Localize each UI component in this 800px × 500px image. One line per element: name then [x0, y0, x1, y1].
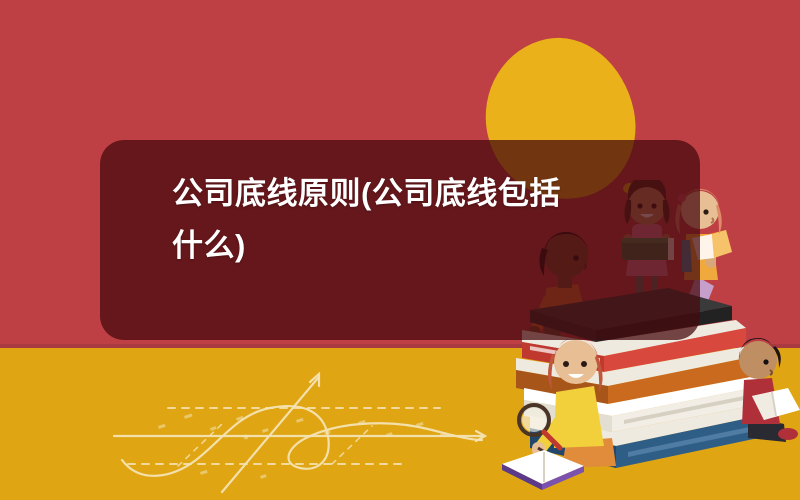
poster-canvas: 公司底线原则(公司底线包括什么) [0, 0, 800, 500]
math-curve-graph [110, 368, 510, 496]
child-boy-red-shirt-reading [739, 338, 800, 442]
page-title: 公司底线原则(公司底线包括什么) [172, 168, 592, 272]
